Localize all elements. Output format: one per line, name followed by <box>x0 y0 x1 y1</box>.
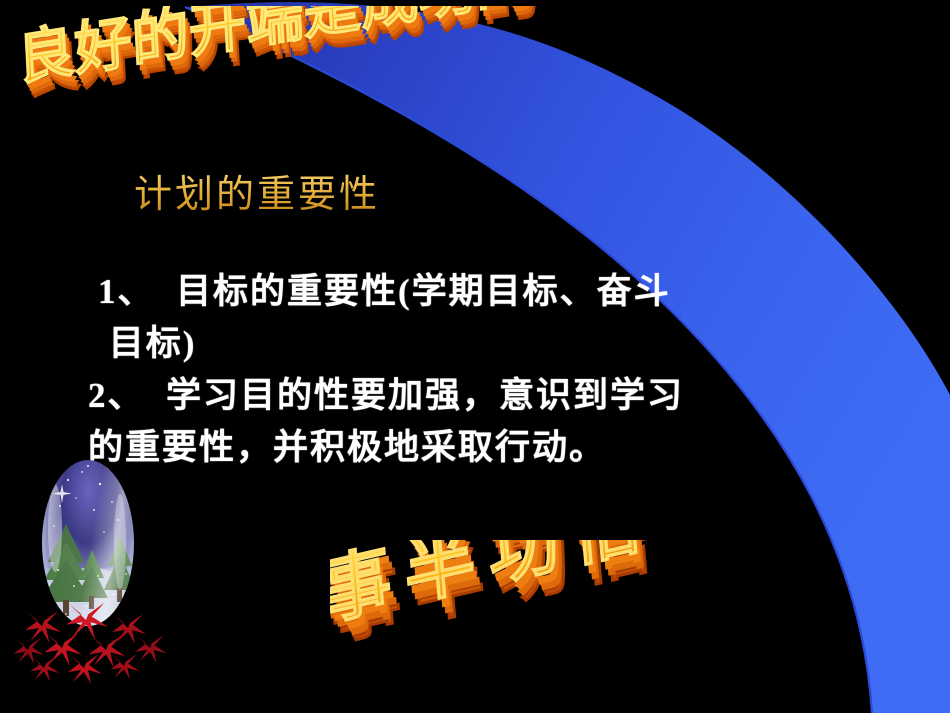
body-line-4: 的重要性，并积极地采取行动。 <box>88 422 868 474</box>
subtitle-text: 计划的重要性 <box>134 163 380 218</box>
footer-wordart: 事半功倍 事半功倍 事半功倍 事半功倍 <box>330 540 890 660</box>
title-wordart-glyphs: 良好的开端是成功的一半 良好的开端是成功的一半 良好的开端是成功的一半 良好的开… <box>22 6 602 106</box>
poinsettia-cluster <box>14 603 167 684</box>
slide-canvas: 良好的开端是成功的一半 良好的开端是成功的一半 良好的开端是成功的一半 良好的开… <box>0 0 950 713</box>
body-line-2: 目标) <box>98 318 868 370</box>
body-line-3: 2、 学习目的性要加强，意识到学习 <box>88 370 868 422</box>
footer-wordart-glyphs: 事半功倍 事半功倍 事半功倍 事半功倍 <box>330 540 669 655</box>
winter-scene-image <box>8 450 184 695</box>
body-line-1: 1、 目标的重要性(学期目标、奋斗 <box>98 266 868 318</box>
body-text-block: 1、 目标的重要性(学期目标、奋斗 目标) 2、 学习目的性要加强，意识到学习 … <box>98 266 868 474</box>
title-wordart: 良好的开端是成功的一半 良好的开端是成功的一半 良好的开端是成功的一半 良好的开… <box>22 6 602 116</box>
